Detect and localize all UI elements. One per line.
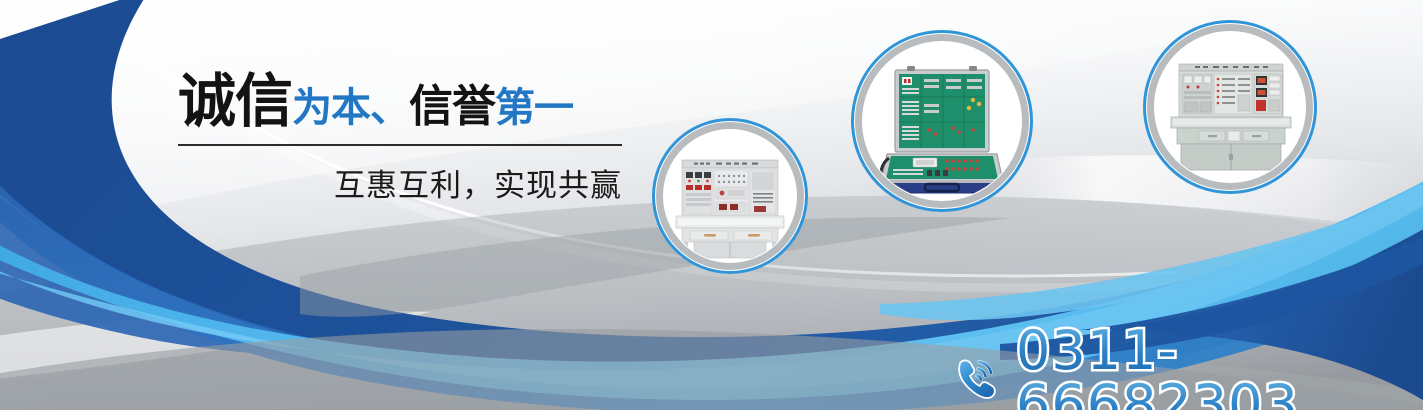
phone-number[interactable]: 0311-66682303	[1016, 319, 1299, 410]
headline-part-chengxin: 诚信	[178, 72, 292, 130]
phone-call-icon-svg	[952, 352, 1004, 404]
headline-part-diyi: 第一	[495, 88, 573, 128]
headline-block: 诚信 为本、 信誉 第一 互惠互利，实现共赢	[178, 72, 624, 205]
headline-part-xinyu: 信誉	[409, 85, 495, 129]
headline-subtitle: 互惠互利，实现共赢	[178, 160, 622, 205]
headline-part-weiben: 为本、	[292, 88, 409, 128]
swoosh-gray-accent-1	[300, 217, 1010, 317]
product-image-workbench-1	[664, 130, 796, 262]
phone-call-icon	[952, 352, 1004, 404]
product-photo-circle-2[interactable]	[851, 30, 1033, 212]
headline-main-line: 诚信 为本、 信誉 第一	[178, 72, 624, 130]
training-case-illustration	[863, 42, 1021, 200]
workbench-illustration-1	[664, 130, 796, 262]
phone-number-stack: 0311-66682303 0311-66682303	[1016, 324, 1423, 410]
contact-block[interactable]: 0311-66682303 0311-66682303	[952, 324, 1423, 410]
headline-divider	[178, 144, 622, 146]
workbench-illustration-2	[1155, 32, 1305, 182]
product-image-training-case	[863, 42, 1021, 200]
product-photo-circle-1[interactable]	[652, 118, 808, 274]
product-photo-circle-3[interactable]	[1143, 20, 1317, 194]
product-image-workbench-2	[1155, 32, 1305, 182]
promo-banner: 诚信 为本、 信誉 第一 互惠互利，实现共赢	[0, 0, 1423, 410]
